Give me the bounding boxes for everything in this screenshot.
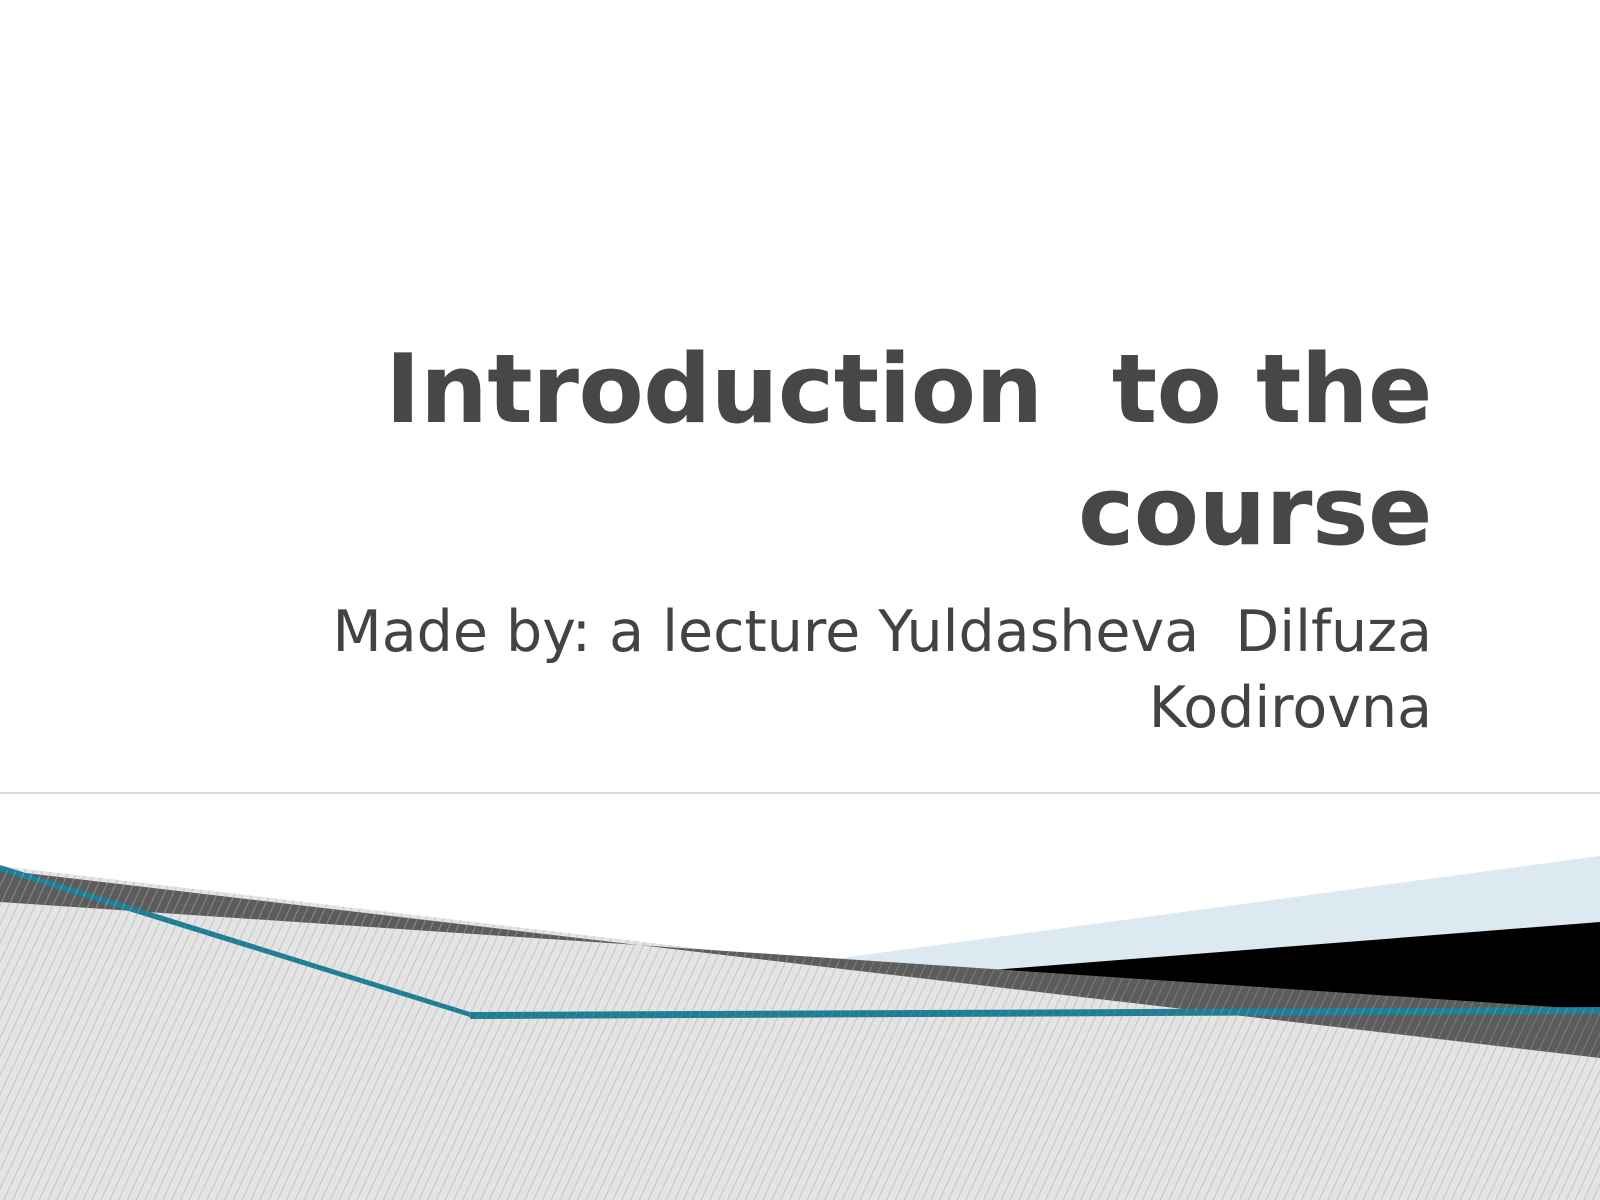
divider-line bbox=[0, 792, 1600, 794]
subtitle-author: Made by: a lecture Yuldasheva Dilfuza Ko… bbox=[200, 595, 1432, 747]
title-slide: Introduction to the course Made by: a le… bbox=[0, 0, 1600, 1200]
page-title: Introduction to the course bbox=[200, 330, 1432, 573]
banner-shapes bbox=[0, 840, 1600, 1200]
decorative-banner-graphic bbox=[0, 840, 1600, 1200]
title-text-block: Introduction to the course Made by: a le… bbox=[200, 330, 1432, 747]
